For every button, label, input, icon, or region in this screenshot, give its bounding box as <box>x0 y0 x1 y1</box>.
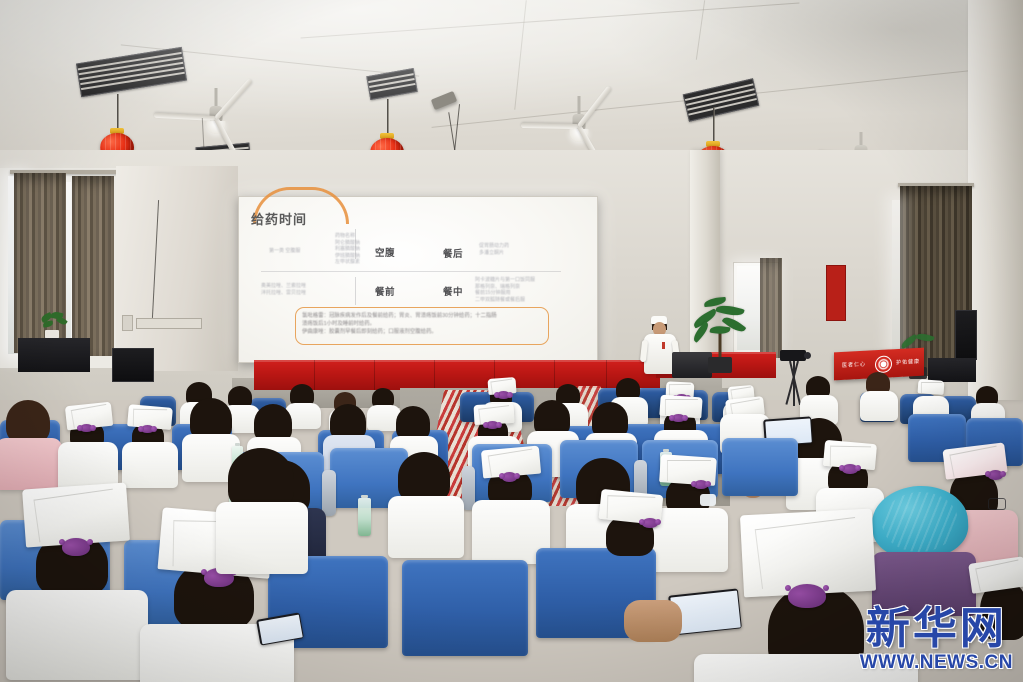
projection-screen: 给药时间 药物名称 阿仑膦酸钠 利塞膦酸钠 伊班膦酸钠 左甲状腺素 第一类 空腹… <box>238 196 598 363</box>
presenter-badge <box>662 342 665 349</box>
slide-blurred-text-right-bottom: 阿卡波糖片与第一口饭同服 那格列奈、瑞格列奈 餐前15分钟服用 二甲双胍随餐或餐… <box>475 277 587 303</box>
wall-outlet-strip <box>136 318 202 329</box>
stage-potted-plant <box>690 296 750 372</box>
nurse-cap-bow <box>642 518 658 528</box>
slide-blurred-text-right-top: 促胃肠动力药 多潘立酮片 <box>479 243 551 256</box>
eyeglasses <box>988 498 1006 510</box>
nurse-cap-bow <box>80 424 93 432</box>
watermark-url: WWW.NEWS.CN <box>860 652 1013 674</box>
window-curtain <box>72 176 114 356</box>
cabinet-left <box>18 338 90 372</box>
slide-blurred-text-left-mid: 第一类 空腹服 <box>269 248 331 255</box>
slide-cell-3: 餐中 <box>443 284 463 298</box>
red-wall-banner <box>826 265 846 321</box>
auditorium-photo: 给药时间 药物名称 阿仑膦酸钠 利塞膦酸钠 伊班膦酸钠 左甲状腺素 第一类 空腹… <box>0 0 1023 682</box>
slide-cell-0: 空腹 <box>375 245 395 259</box>
window-daylight <box>892 200 900 350</box>
slide-cell-1: 餐后 <box>443 246 463 260</box>
watermark-chinese: 新华网 <box>860 606 1013 652</box>
banner-text-left: 医者仁心 <box>842 361 866 369</box>
nurse-cap-bow <box>486 421 499 429</box>
video-camera <box>780 350 806 361</box>
camera-lens-icon <box>804 352 811 359</box>
slide-callout-box: 氯吡格雷：冠脉疾病发作后及餐前给药；胃炎、胃溃疡饭前30分钟给药；十二指肠 溃疡… <box>295 307 549 345</box>
banner-text-right: 护佑健康 <box>896 358 920 366</box>
banner-emblem-icon <box>875 355 892 373</box>
nurse-cap-bow <box>62 538 90 556</box>
nurse-cap-bow <box>842 464 858 474</box>
nurse-cap-bow <box>988 470 1003 480</box>
speaker-right <box>955 310 977 360</box>
nurse-cap-bow <box>788 584 826 608</box>
seat <box>722 438 798 496</box>
seat <box>402 560 528 656</box>
slide-blurred-text-left-bottom: 奥美拉唑、兰索拉唑 泮托拉唑、雷贝拉唑 <box>261 283 391 296</box>
nurse-cap <box>918 379 945 395</box>
water-bottle <box>358 498 371 536</box>
speaker-left <box>112 348 154 382</box>
face-mask <box>700 494 716 506</box>
slide-callout-text: 氯吡格雷：冠脉疾病发作后及餐前给药；胃炎、胃溃疡饭前30分钟给药；十二指肠 溃疡… <box>302 312 544 336</box>
slide-content: 给药时间 药物名称 阿仑膦酸钠 利塞膦酸钠 伊班膦酸钠 左甲状腺素 第一类 空腹… <box>247 203 589 354</box>
hand-holding-phone <box>624 600 694 660</box>
nurse-cap-bow <box>141 425 154 433</box>
nurse-cap-bow <box>502 472 517 482</box>
door-curtain <box>760 258 782 358</box>
wall-switch <box>122 315 133 331</box>
nurse-cap-bow <box>672 414 685 422</box>
potted-plant-left <box>33 312 73 340</box>
left-wall <box>116 166 238 371</box>
watermark: 新华网 WWW.NEWS.CN <box>860 606 1013 674</box>
slide-title: 给药时间 <box>251 209 307 228</box>
nurse-cap-bow <box>694 480 708 489</box>
slide-cell-2: 餐前 <box>375 284 395 298</box>
seat-armrest <box>322 470 336 516</box>
stage-front-panel <box>254 360 660 390</box>
nurse-cap-bow <box>497 391 510 399</box>
